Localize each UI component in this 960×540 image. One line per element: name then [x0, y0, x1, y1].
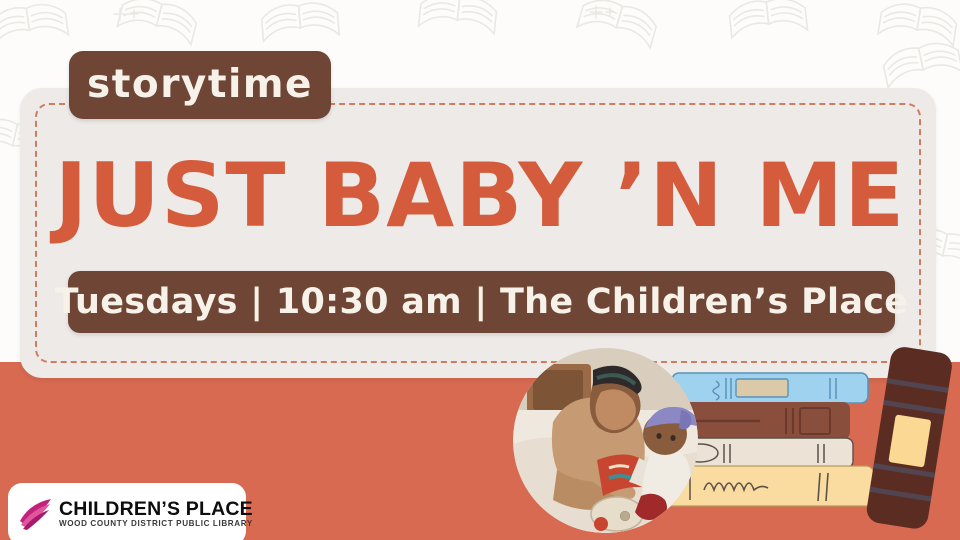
upright-dark-book: [865, 345, 954, 531]
page-title: JUST BABY ’N ME: [0, 152, 960, 240]
feather-quill-icon: [18, 497, 54, 531]
brown-book: [678, 402, 850, 439]
event-details-bar: Tuesdays | 10:30 am | The Children’s Pla…: [68, 271, 895, 333]
logo-text-block: CHILDREN’S PLACE WOOD COUNTY DISTRICT PU…: [59, 499, 253, 529]
photo-adult-and-baby-reading: [513, 348, 698, 533]
event-details-text: Tuesdays | 10:30 am | The Children’s Pla…: [55, 285, 909, 320]
library-logo: CHILDREN’S PLACE WOOD COUNTY DISTRICT PU…: [8, 483, 246, 540]
storytime-badge-label: storytime: [87, 65, 313, 104]
logo-subtitle: WOOD COUNTY DISTRICT PUBLIC LIBRARY: [59, 520, 253, 529]
storytime-poster: storytime JUST BABY ’N ME Tuesdays | 10:…: [0, 0, 960, 540]
storytime-badge: storytime: [69, 51, 331, 119]
logo-title: CHILDREN’S PLACE: [59, 499, 253, 519]
books-illustration: [660, 345, 960, 540]
yellow-book: [662, 466, 874, 506]
blue-book: [672, 373, 868, 403]
